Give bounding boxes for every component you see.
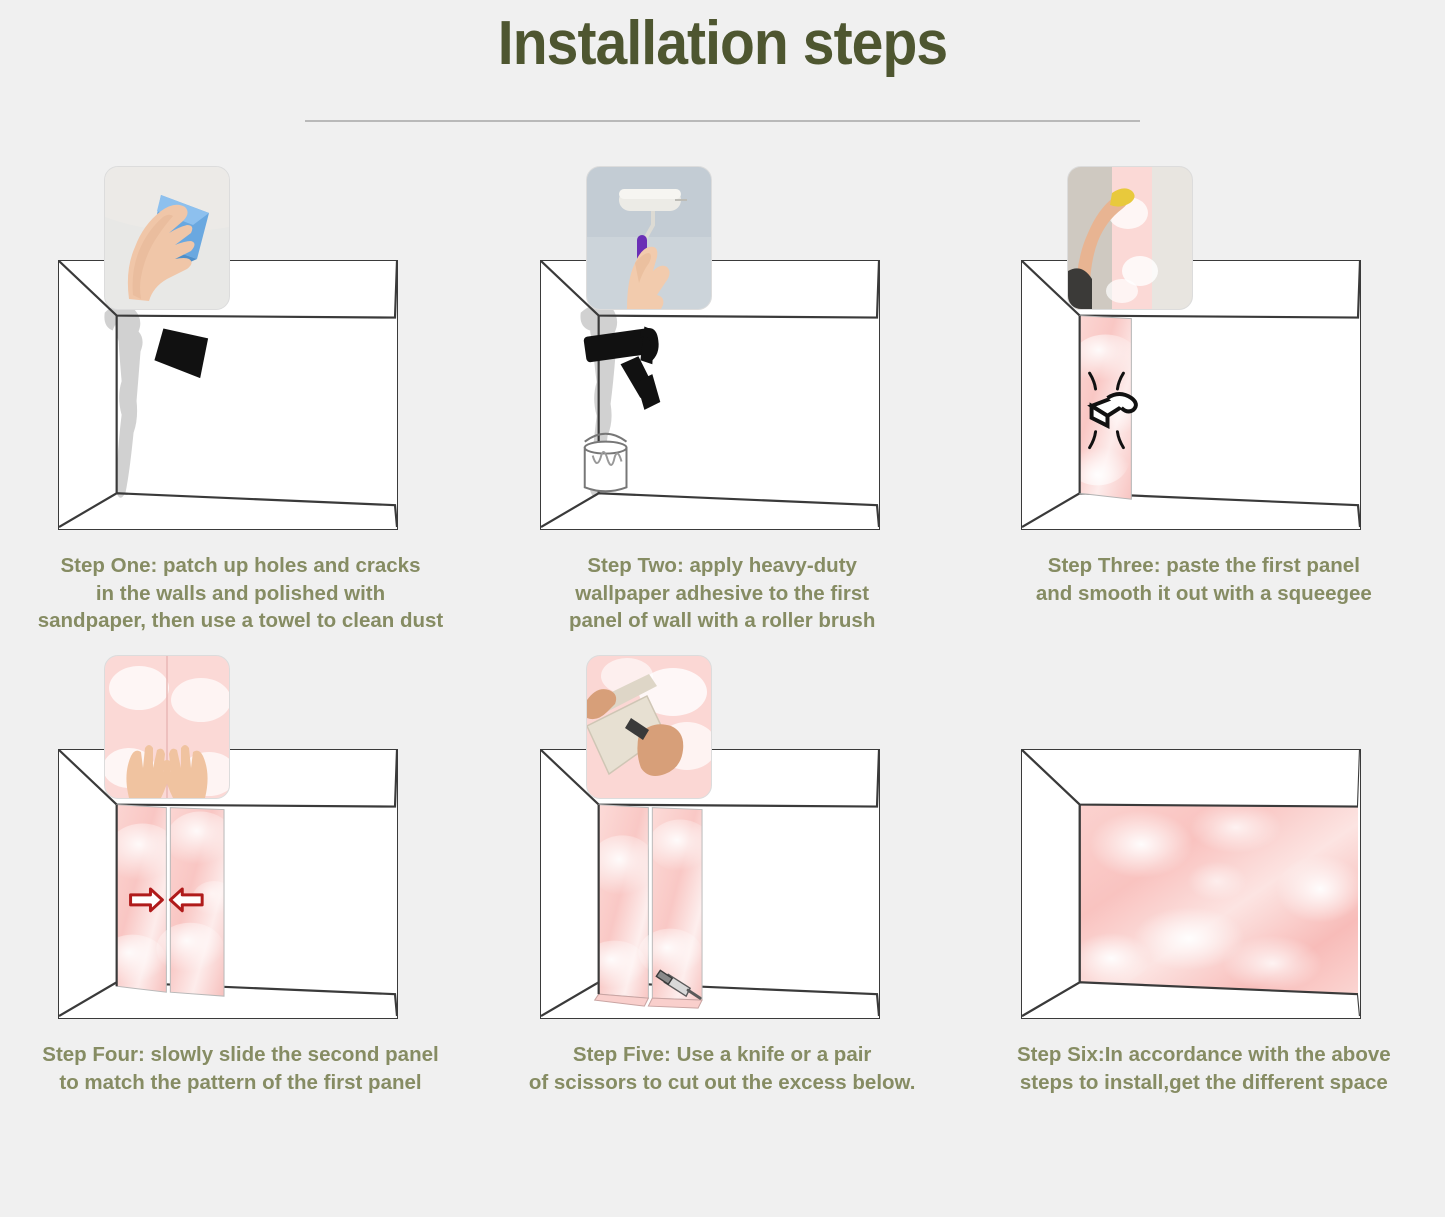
- floor-edge-line: [59, 493, 397, 527]
- roller-sleeve: [619, 189, 687, 211]
- step-six-cell: Step Six:In accordance with the above st…: [963, 639, 1444, 1096]
- step-two-cell: Step Two: apply heavy-duty wallpaper adh…: [482, 150, 963, 635]
- step-five-caption: Step Five: Use a knife or a pair of scis…: [482, 1041, 963, 1096]
- step-three-caption: Step Three: paste the first panel and sm…: [963, 552, 1444, 607]
- finished-wallpapered-wall: [1072, 802, 1360, 995]
- step-six-illustration: [963, 639, 1444, 1039]
- wallpaper-panel-two: [638, 808, 712, 1001]
- step-six-caption: Step Six:In accordance with the above st…: [963, 1041, 1444, 1096]
- two-hands-matching-wallpaper-seam-photo: [104, 655, 230, 799]
- wall-smudge-icon: [104, 305, 142, 498]
- hand-wiping-wall-with-blue-cloth-photo: [104, 166, 230, 310]
- floor-edge-line: [1022, 493, 1360, 527]
- step-two-illustration: [482, 150, 963, 550]
- installation-steps-grid: Step One: patch up holes and cracks in t…: [0, 150, 1445, 1096]
- page-title: Installation steps: [58, 0, 1387, 78]
- step-five-cell: Step Five: Use a knife or a pair of scis…: [482, 639, 963, 1096]
- floor-edge-line: [59, 982, 397, 1016]
- floor-edge-line: [541, 982, 879, 1016]
- step-one-illustration: [0, 150, 481, 550]
- shirt: [1068, 268, 1092, 309]
- hand-cutting-wallpaper-with-knife-photo: [586, 655, 712, 799]
- step-four-illustration: [0, 639, 481, 1039]
- step-four-caption: Step Four: slowly slide the second panel…: [0, 1041, 481, 1096]
- step-three-cell: Step Three: paste the first panel and sm…: [963, 150, 1444, 635]
- step-three-illustration: [963, 150, 1444, 550]
- step-four-cell: Step Four: slowly slide the second panel…: [0, 639, 481, 1096]
- paint-bucket-icon: [584, 434, 626, 492]
- wallpaper-strip: [1106, 167, 1158, 309]
- wallpaper-panel-one: [582, 805, 656, 999]
- step-one-cell: Step One: patch up holes and cracks in t…: [0, 150, 481, 635]
- step-two-caption: Step Two: apply heavy-duty wallpaper adh…: [482, 552, 963, 635]
- title-divider: [305, 120, 1140, 122]
- person-applying-wallpaper-panel-photo: [1067, 166, 1193, 310]
- room-diagram: [1021, 749, 1361, 1019]
- sandpaper-block-icon: [154, 328, 208, 378]
- left-wall-white: [1022, 750, 1080, 1016]
- hand-holding-paint-roller-photo: [586, 166, 712, 310]
- step-one-caption: Step One: patch up holes and cracks in t…: [0, 552, 481, 635]
- step-five-illustration: [482, 639, 963, 1039]
- floor-edge-line: [541, 493, 879, 527]
